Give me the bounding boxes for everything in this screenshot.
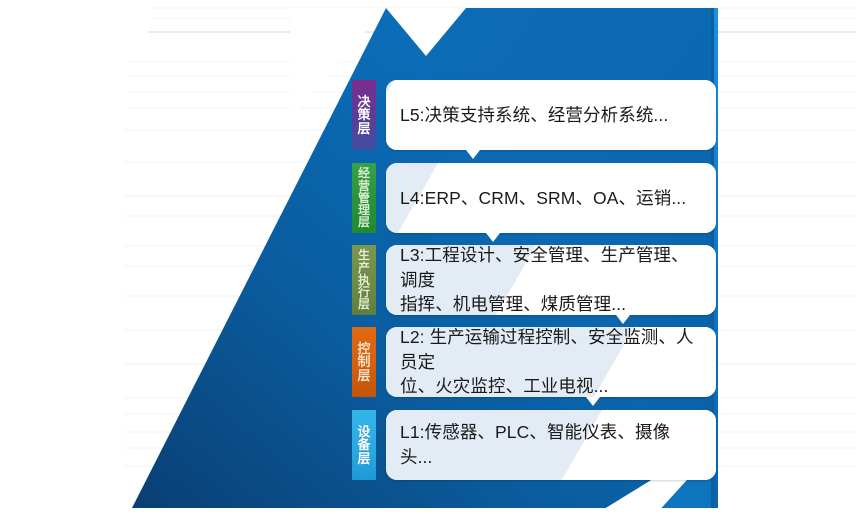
layer-tab-char: 经 bbox=[358, 167, 370, 179]
layer-card-l2[interactable]: L2: 生产运输过程控制、安全监测、人员定 位、火灾监控、工业电视... bbox=[386, 327, 716, 397]
row-connector-arrow bbox=[616, 315, 630, 324]
layer-card-text-l1: L1:传感器、PLC、智能仪表、摄像头... bbox=[400, 420, 702, 470]
layer-row-l3[interactable]: 生 产 执 行 层 L3:工程设计、安全管理、生产管理、调度 指挥、机电管理、煤… bbox=[352, 245, 716, 315]
layer-tab-char: 层 bbox=[357, 369, 370, 382]
layer-card-text-l5: L5:决策支持系统、经营分析系统... bbox=[400, 103, 668, 128]
layer-tab-l1[interactable]: 设 备 层 bbox=[352, 410, 376, 480]
layer-tab-l5[interactable]: 决 策 层 bbox=[352, 80, 376, 150]
row-connector-arrow bbox=[486, 233, 500, 242]
layer-tab-char: 层 bbox=[357, 122, 370, 135]
layer-row-l2[interactable]: 控 制 层 L2: 生产运输过程控制、安全监测、人员定 位、火灾监控、工业电视.… bbox=[352, 327, 716, 397]
layer-card-l1[interactable]: L1:传感器、PLC、智能仪表、摄像头... bbox=[386, 410, 716, 480]
layer-row-l5[interactable]: 决 策 层 L5:决策支持系统、经营分析系统... bbox=[352, 80, 716, 150]
layer-row-l1[interactable]: 设 备 层 L1:传感器、PLC、智能仪表、摄像头... bbox=[352, 410, 716, 480]
layer-card-l5[interactable]: L5:决策支持系统、经营分析系统... bbox=[386, 80, 716, 150]
layer-tab-char: 层 bbox=[358, 216, 370, 228]
layer-stack: 决 策 层 L5:决策支持系统、经营分析系统... 经 营 管 理 层 L4:E… bbox=[0, 0, 856, 514]
layer-card-l4[interactable]: L4:ERP、CRM、SRM、OA、运销... bbox=[386, 163, 716, 233]
layer-card-text-l3: L3:工程设计、安全管理、生产管理、调度 指挥、机电管理、煤质管理... bbox=[400, 245, 702, 315]
layer-row-l4[interactable]: 经 营 管 理 层 L4:ERP、CRM、SRM、OA、运销... bbox=[352, 163, 716, 233]
layer-tab-char: 层 bbox=[358, 298, 370, 310]
diagram-canvas: 决 策 层 L5:决策支持系统、经营分析系统... 经 营 管 理 层 L4:E… bbox=[0, 0, 856, 514]
layer-tab-char: 策 bbox=[357, 108, 370, 121]
layer-tab-l2[interactable]: 控 制 层 bbox=[352, 327, 376, 397]
layer-tab-l4[interactable]: 经 营 管 理 层 bbox=[352, 163, 376, 233]
row-connector-arrow bbox=[586, 397, 600, 406]
layer-tab-char: 备 bbox=[357, 438, 370, 451]
layer-card-text-l2: L2: 生产运输过程控制、安全监测、人员定 位、火灾监控、工业电视... bbox=[400, 327, 702, 397]
layer-tab-char: 制 bbox=[357, 355, 370, 368]
layer-card-text-l4: L4:ERP、CRM、SRM、OA、运销... bbox=[400, 186, 686, 211]
layer-tab-char: 生 bbox=[358, 249, 370, 261]
row-connector-arrow bbox=[466, 150, 480, 159]
layer-tab-char: 层 bbox=[357, 452, 370, 465]
layer-tab-l3[interactable]: 生 产 执 行 层 bbox=[352, 245, 376, 315]
layer-card-l3[interactable]: L3:工程设计、安全管理、生产管理、调度 指挥、机电管理、煤质管理... bbox=[386, 245, 716, 315]
